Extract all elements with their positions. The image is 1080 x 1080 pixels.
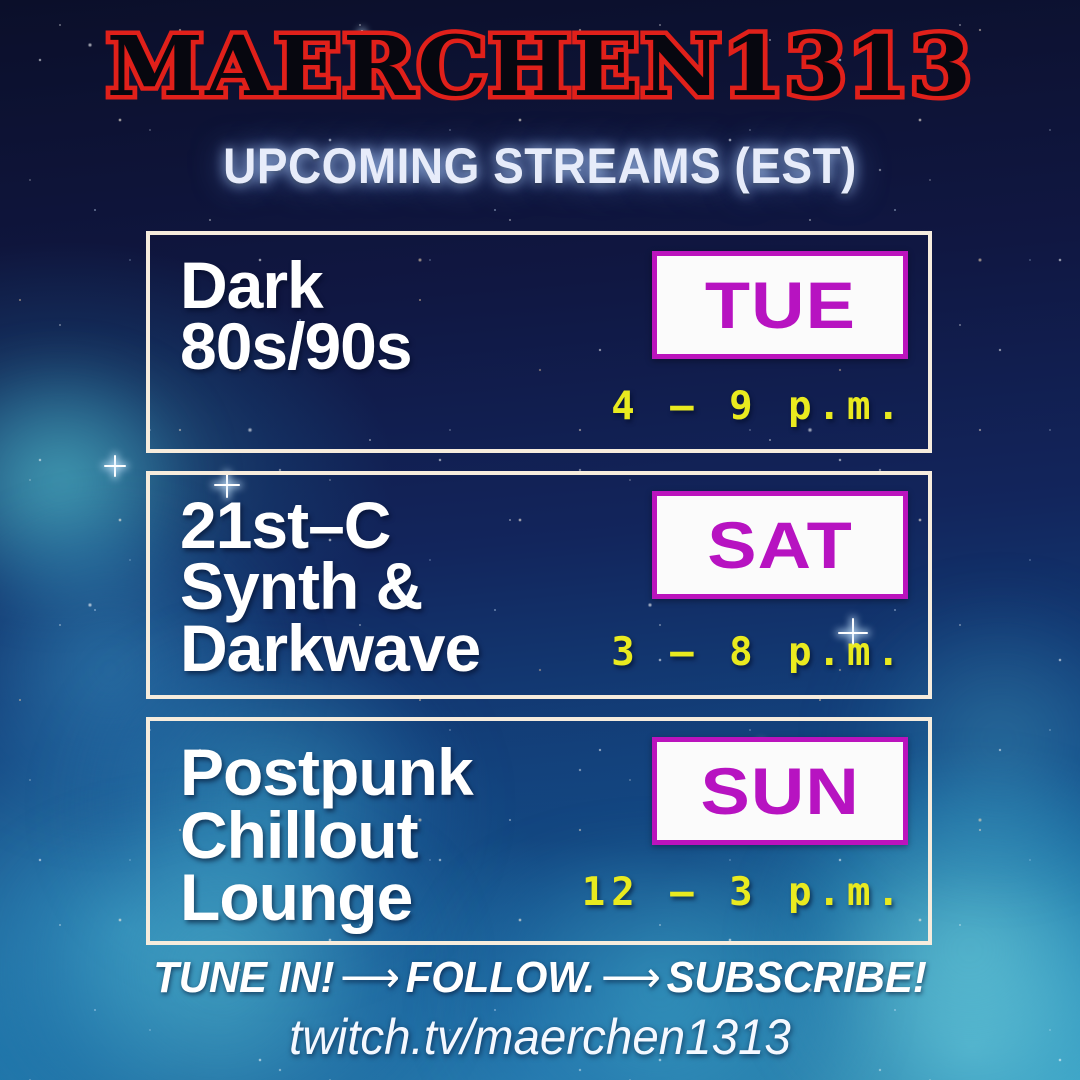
card-text-block: 21st–C Synth & Darkwave (180, 491, 480, 685)
page-subtitle: UPCOMING STREAMS (EST) (43, 137, 1037, 195)
schedule-list: Dark 80s/90s TUE 4 – 9 p.m. 21st–C Synth… (146, 231, 932, 963)
schedule-card[interactable]: Dark 80s/90s TUE 4 – 9 p.m. (146, 231, 932, 453)
card-meta-block: SUN 12 – 3 p.m. (582, 737, 908, 931)
cta-tune-in: TUNE IN! (153, 953, 334, 1002)
sparkle-star (104, 455, 126, 477)
card-meta-block: TUE 4 – 9 p.m. (611, 251, 908, 439)
card-text-block: Dark 80s/90s (180, 251, 412, 439)
stream-time: 3 – 8 p.m. (611, 630, 908, 675)
stream-time: 12 – 3 p.m. (582, 870, 908, 915)
arrow-right-icon: ⟶ (595, 953, 666, 1002)
schedule-card[interactable]: Postpunk Chillout Lounge SUN 12 – 3 p.m. (146, 717, 932, 945)
stream-time: 4 – 9 p.m. (611, 384, 908, 429)
call-to-action: TUNE IN!⟶FOLLOW.⟶SUBSCRIBE! (27, 952, 1053, 1003)
day-badge: SAT (652, 491, 908, 599)
card-meta-block: SAT 3 – 8 p.m. (611, 491, 908, 685)
stream-title: Postpunk Chillout Lounge (180, 741, 473, 929)
cta-follow: FOLLOW. (406, 953, 596, 1002)
cta-subscribe: SUBSCRIBE! (667, 953, 927, 1002)
stream-title: 21st–C Synth & Darkwave (180, 495, 480, 679)
brand-title: MAERCHEN1313 (0, 26, 1080, 108)
day-badge: SUN (652, 737, 908, 845)
day-badge: TUE (652, 251, 908, 359)
card-text-block: Postpunk Chillout Lounge (180, 737, 473, 931)
day-badge-label: SUN (700, 758, 859, 824)
day-badge-label: SAT (707, 512, 853, 578)
poster-canvas: MAERCHEN1313 UPCOMING STREAMS (EST) Dark… (0, 0, 1080, 1080)
channel-url[interactable]: twitch.tv/maerchen1313 (27, 1008, 1053, 1066)
day-badge-label: TUE (704, 272, 855, 338)
arrow-right-icon: ⟶ (334, 953, 405, 1002)
schedule-card[interactable]: 21st–C Synth & Darkwave SAT 3 – 8 p.m. (146, 471, 932, 699)
stream-title: Dark 80s/90s (180, 255, 412, 378)
